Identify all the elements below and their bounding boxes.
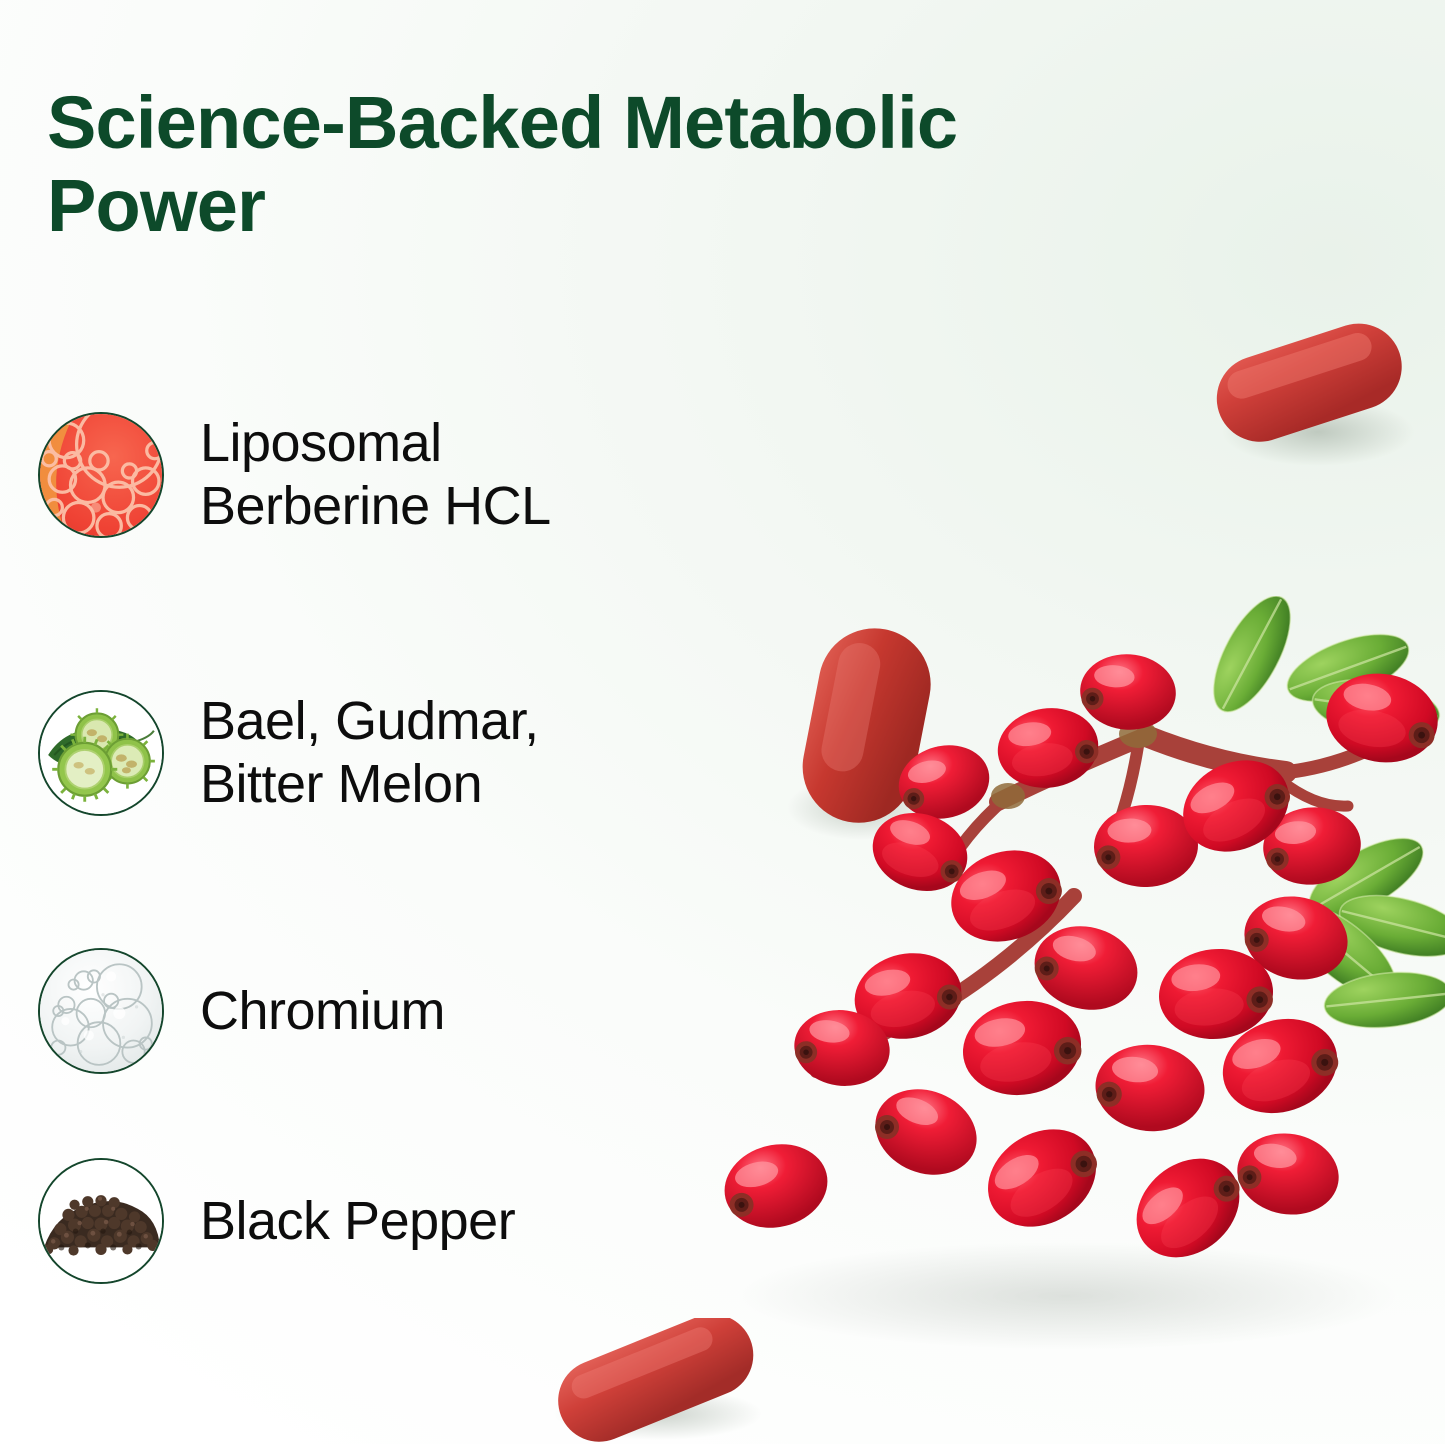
clear-bubbles-icon xyxy=(38,948,164,1074)
barberry-cluster xyxy=(676,596,1445,1352)
red-tablet-top-right xyxy=(1190,300,1440,480)
list-item-label: Chromium xyxy=(200,980,445,1043)
black-peppercorns-icon xyxy=(38,1158,164,1284)
list-item-label: Black Pepper xyxy=(200,1190,515,1253)
list-item: Liposomal Berberine HCL xyxy=(38,412,551,538)
list-item-label: Bael, Gudmar, Bitter Melon xyxy=(200,690,539,815)
infographic-canvas: Science-Backed Metabolic Power xyxy=(0,0,1445,1444)
list-item: Chromium xyxy=(38,948,445,1074)
list-item-label: Liposomal Berberine HCL xyxy=(200,412,551,537)
list-item: Bael, Gudmar, Bitter Melon xyxy=(38,690,539,816)
liposome-cells-icon xyxy=(38,412,164,538)
ingredient-list: Liposomal Berberine HCL xyxy=(0,0,760,1444)
red-tablet-middle xyxy=(765,612,995,862)
bitter-melon-icon xyxy=(38,690,164,816)
list-item: Black Pepper xyxy=(38,1158,515,1284)
